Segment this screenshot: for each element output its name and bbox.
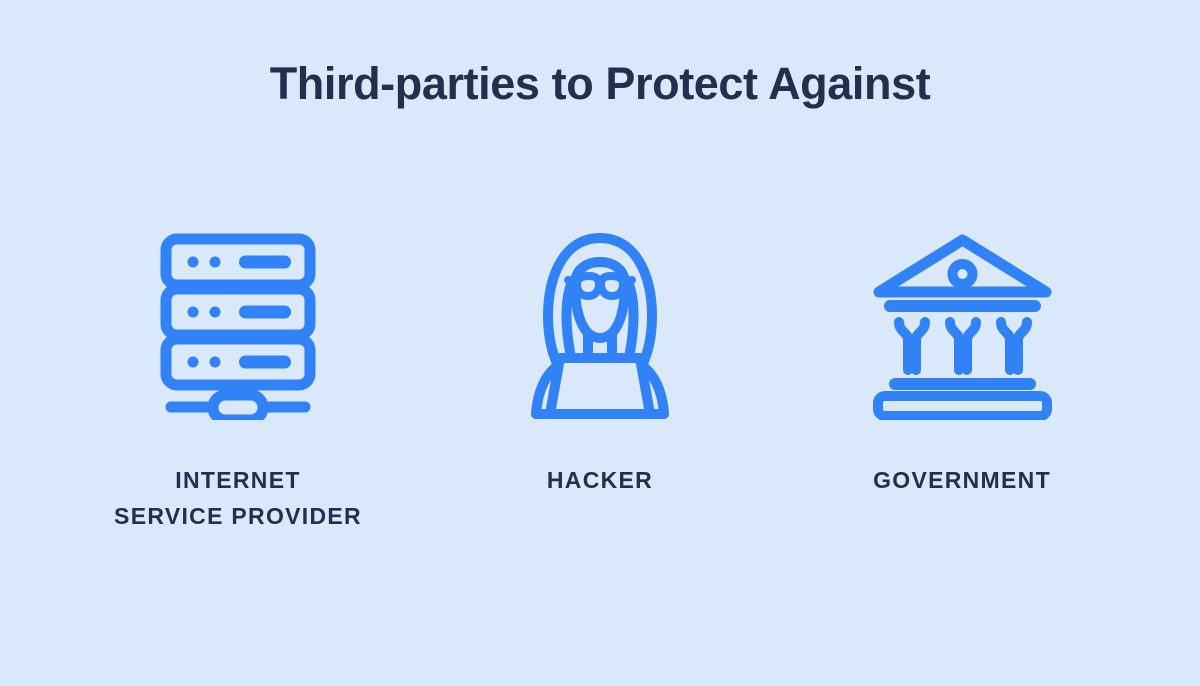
card-icon-wrapper [520,225,680,425]
card-hacker[interactable]: HACKER [419,225,781,499]
server-rack-icon [153,230,323,420]
page-title: Third-parties to Protect Against [0,58,1200,110]
laptop-icon [550,358,650,414]
card-label-government: GOVERNMENT [873,463,1051,499]
card-icon-wrapper [870,225,1055,425]
hacker-icon [520,230,680,420]
card-label-internet-service-provider: INTERNET SERVICE PROVIDER [114,463,362,534]
pediment-emblem-icon [952,264,972,284]
base-step-icon [878,396,1047,416]
card-internet-service-provider[interactable]: INTERNET SERVICE PROVIDER [57,225,419,534]
card-government[interactable]: GOVERNMENT [781,225,1143,499]
sunglasses-icon [568,276,632,296]
card-label-hacker: HACKER [547,463,653,499]
network-connector-node [213,395,263,420]
third-party-card-row: INTERNET SERVICE PROVIDER [0,225,1200,534]
card-icon-wrapper [153,225,323,425]
government-building-icon [870,230,1055,420]
slide-canvas: Third-parties to Protect Against [0,0,1200,686]
